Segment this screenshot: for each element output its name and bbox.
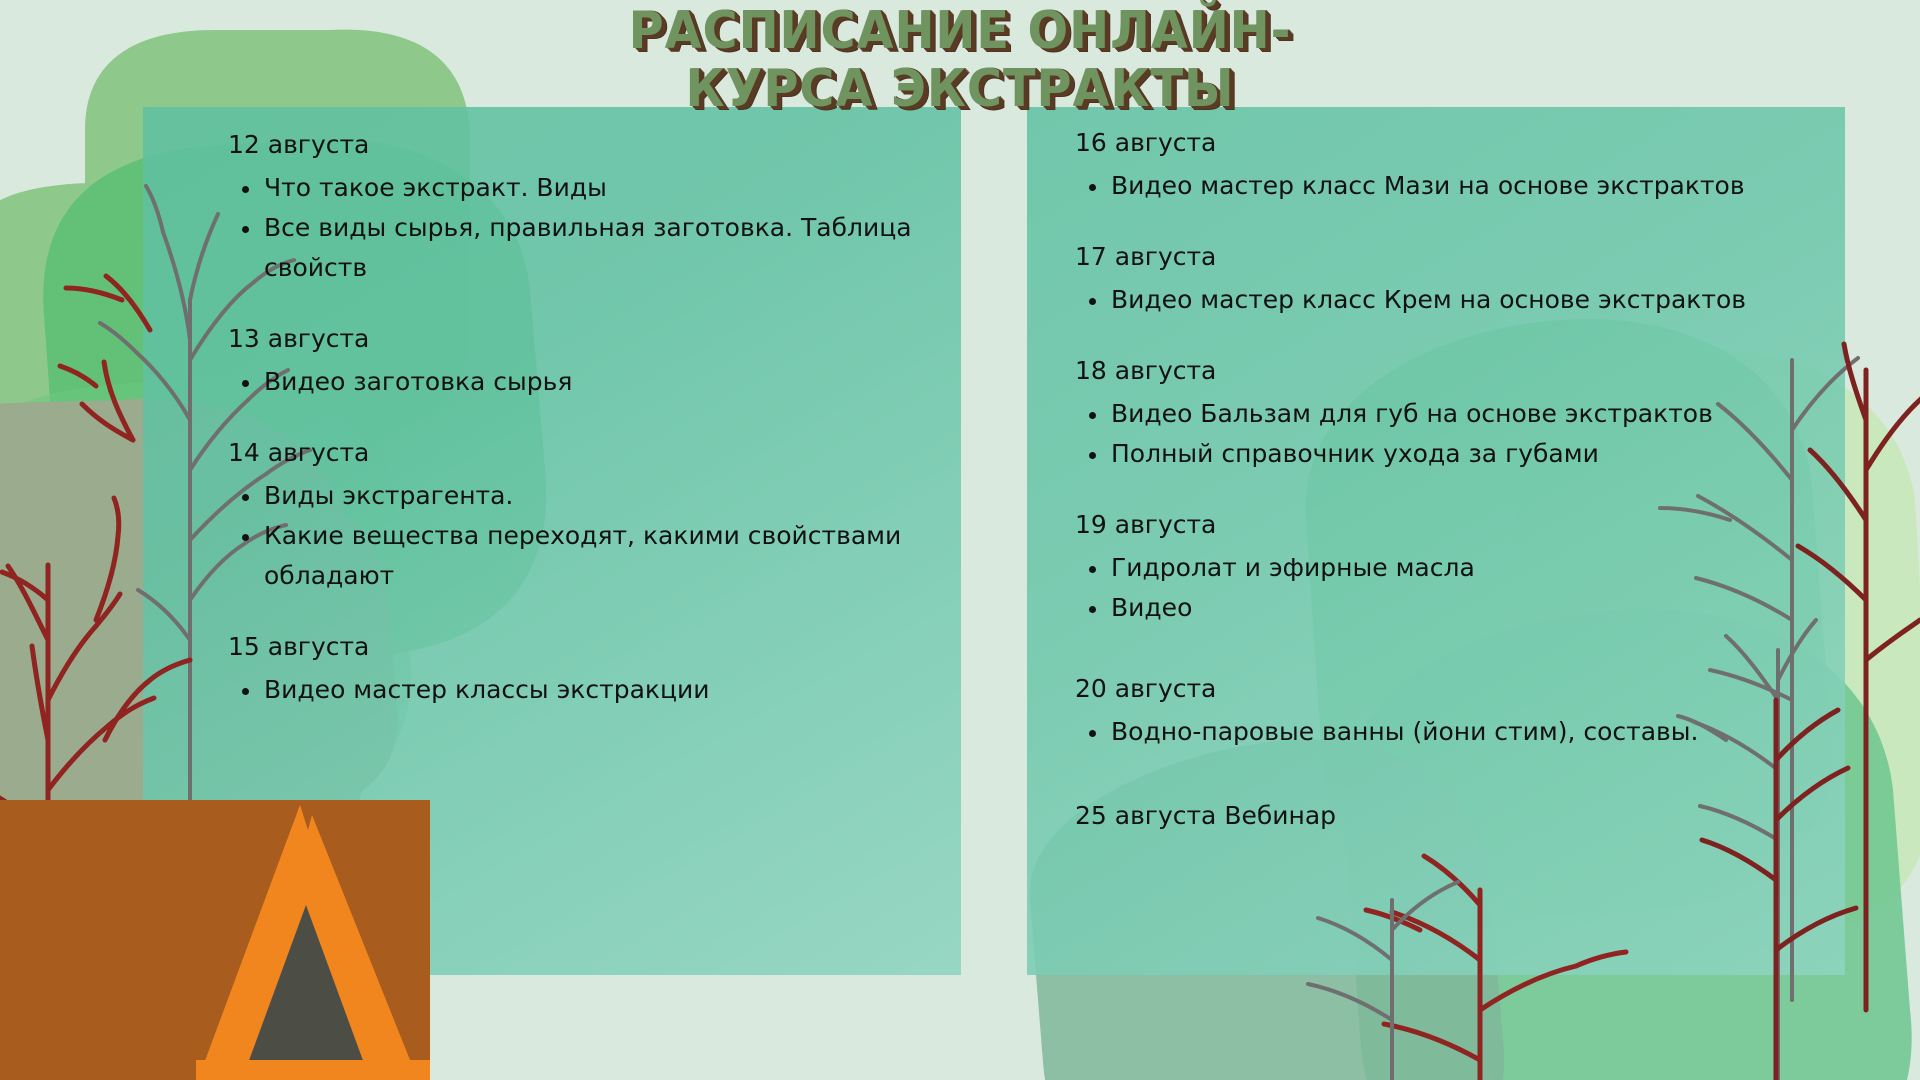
day-date-label: 15 августа [228,630,928,664]
list-item: Водно-паровые ванны (йони стим), составы… [1075,712,1815,752]
day-items-list: Видео мастер класс Мази на основе экстра… [1075,166,1815,206]
spacer [228,596,928,630]
day-items-list: Виды экстрагента. Какие вещества переход… [228,476,928,596]
list-item: Какие вещества переходят, какими свойств… [228,516,928,596]
day-date-label: 12 августа [228,128,928,162]
day-items-list: Видео заготовка сырья [228,362,928,402]
list-item: Что такое экстракт. Виды [228,168,928,208]
schedule-column-left: 12 августа Что такое экстракт. Виды Все … [228,128,928,710]
spacer [228,402,928,436]
day-items-list: Видео Бальзам для губ на основе экстракт… [1075,394,1815,474]
spacer [228,288,928,322]
day-date-label: 17 августа [1075,240,1815,274]
day-date-label: 14 августа [228,436,928,470]
list-item: Полный справочник ухода за губами [1075,434,1815,474]
day-date-label: 13 августа [228,322,928,356]
bush-branches-red-bottom [1366,856,1626,1080]
day-date-label: 18 августа [1075,354,1815,388]
schedule-footer-webinar: 25 августа Вебинар [1075,796,1815,836]
day-items-list: Видео мастер классы экстракции [228,670,928,710]
list-item: Гидролат и эфирные масла [1075,548,1815,588]
spacer [1075,474,1815,508]
schedule-day-12: 12 августа Что такое экстракт. Виды Все … [228,128,928,288]
schedule-day-17: 17 августа Видео мастер класс Крем на ос… [1075,240,1815,320]
schedule-day-20: 20 августа Водно-паровые ванны (йони сти… [1075,672,1815,752]
day-items-list: Гидролат и эфирные масла Видео [1075,548,1815,628]
list-item: Все виды сырья, правильная заготовка. Та… [228,208,928,288]
schedule-day-16: 16 августа Видео мастер класс Мази на ос… [1075,126,1815,206]
day-items-list: Водно-паровые ванны (йони стим), составы… [1075,712,1815,752]
spacer [1075,320,1815,354]
day-date-label: 19 августа [1075,508,1815,542]
day-items-list: Видео мастер класс Крем на основе экстра… [1075,280,1815,320]
schedule-column-right: 16 августа Видео мастер класс Мази на ос… [1075,126,1815,836]
schedule-day-13: 13 августа Видео заготовка сырья [228,322,928,402]
tree-branches-red-right-upper [1798,344,1920,1010]
list-item: Видео [1075,588,1815,628]
slide-canvas: РАСПИСАНИЕ ОНЛАЙН- КУРСА ЭКСТРАКТЫ 12 ав… [0,0,1920,1080]
schedule-day-19: 19 августа Гидролат и эфирные масла Виде… [1075,508,1815,628]
bush-branches-gray-bottom [1308,882,1458,1080]
list-item: Видео Бальзам для губ на основе экстракт… [1075,394,1815,434]
list-item: Видео заготовка сырья [228,362,928,402]
list-item: Видео мастер класс Мази на основе экстра… [1075,166,1815,206]
spacer [1075,206,1815,240]
spacer [1075,628,1815,672]
schedule-day-15: 15 августа Видео мастер классы экстракци… [228,630,928,710]
day-date-label: 16 августа [1075,126,1815,160]
day-date-label: 20 августа [1075,672,1815,706]
list-item: Видео мастер классы экстракции [228,670,928,710]
schedule-day-18: 18 августа Видео Бальзам для губ на осно… [1075,354,1815,474]
list-item: Видео мастер класс Крем на основе экстра… [1075,280,1815,320]
day-items-list: Что такое экстракт. Виды Все виды сырья,… [228,168,928,288]
list-item: Виды экстрагента. [228,476,928,516]
tree-branches-red-left [60,276,150,440]
spacer [1075,752,1815,796]
schedule-day-14: 14 августа Виды экстрагента. Какие вещес… [228,436,928,596]
